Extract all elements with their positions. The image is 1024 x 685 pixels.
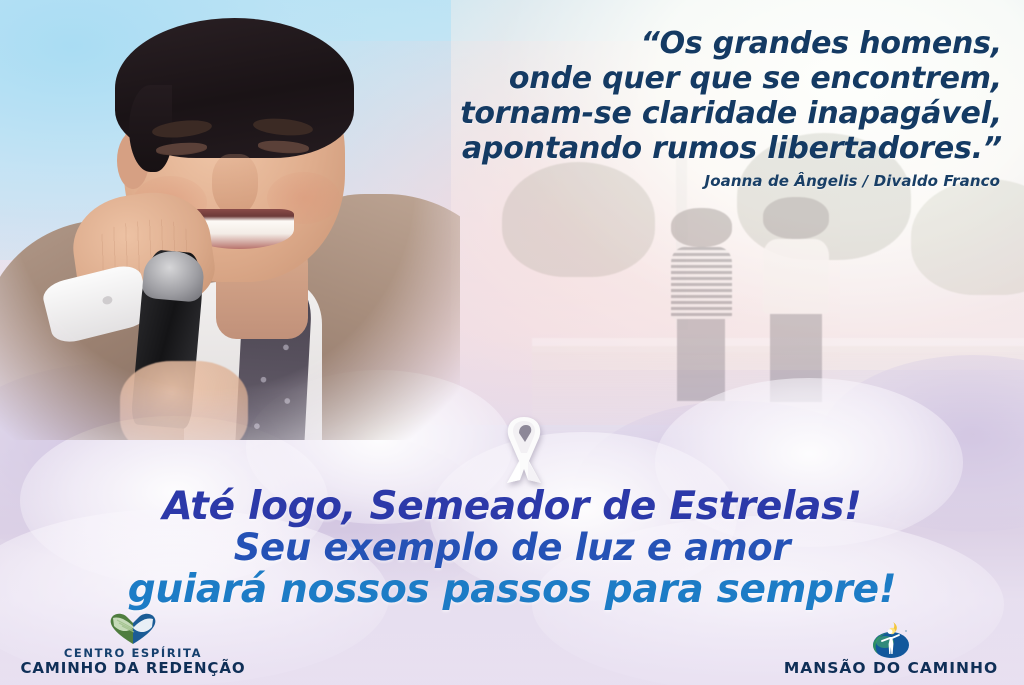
- globe-figure-flame-icon: [766, 622, 1016, 660]
- quote-line-2: onde quer que se encontrem,: [382, 61, 1002, 96]
- headline-line-3: guiará nossos passos para sempre!: [0, 568, 1024, 611]
- memorial-poster: “Os grandes homens, onde quer que se enc…: [0, 0, 1024, 685]
- logo-right-line-2: MANSÃO DO CAMINHO: [766, 660, 1016, 677]
- tree-shape: [911, 179, 1024, 294]
- quote-line-3: tornam-se claridade inapagável,: [382, 96, 1002, 131]
- logo-left-line-2: CAMINHO DA REDENÇÃO: [8, 660, 258, 677]
- quote-text: “Os grandes homens, onde quer que se enc…: [382, 26, 1002, 166]
- white-ribbon-icon: [489, 411, 559, 487]
- quote-line-1: “Os grandes homens,: [382, 26, 1002, 61]
- headline-line-1: Até logo, Semeador de Estrelas!: [0, 487, 1024, 527]
- hair: [115, 18, 354, 159]
- quote-line-4: apontando rumos libertadores.”: [382, 131, 1002, 166]
- logo-mansao-do-caminho: MANSÃO DO CAMINHO: [766, 622, 1016, 677]
- headline-block: Até logo, Semeador de Estrelas! Seu exem…: [0, 487, 1024, 611]
- headline-line-2: Seu exemplo de luz e amor: [0, 527, 1024, 568]
- quote-attribution: Joanna de Ângelis / Divaldo Franco: [380, 172, 1000, 190]
- logo-centro-espirita: CENTRO ESPÍRITA CAMINHO DA REDENÇÃO: [8, 609, 258, 677]
- nose: [212, 154, 258, 216]
- heart-hands-icon: [8, 609, 258, 647]
